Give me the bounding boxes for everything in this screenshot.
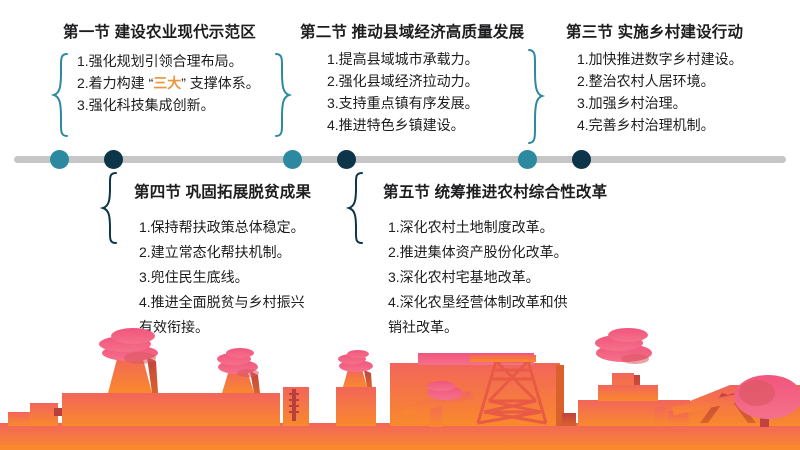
section-5-item-1: 1.深化农村土地制度改革。 [388, 215, 568, 240]
section-4-title: 第四节 巩固拓展脱贫成果 [134, 180, 311, 202]
timeline-dot-6[interactable] [572, 150, 591, 169]
section-3-item-1: 1.加快推进数字乡村建设。 [577, 48, 743, 70]
section-5-item-4: 4.深化农垦经营体制改革和供 [388, 290, 568, 315]
section-5-title: 第五节 统筹推进农村综合性改革 [383, 180, 607, 202]
section-1-list: 1.强化规划引领合理布局。 2.着力构建 “三大” 支撑体系。 3.强化科技集成… [77, 50, 260, 116]
section-4-item-2: 2.建立常态化帮扶机制。 [139, 240, 305, 265]
section-3-item-4: 4.完善乡村治理机制。 [577, 114, 743, 136]
timeline-dot-3[interactable] [283, 150, 302, 169]
infographic-canvas: 第一节 建设农业现代示范区 第二节 推动县域经济高质量发展 第三节 实施乡村建设… [0, 0, 800, 450]
brace-left-section-4 [101, 171, 119, 245]
section-1-item-2: 2.着力构建 “三大” 支撑体系。 [77, 72, 260, 94]
section-4-item-3: 3.兜住民生底线。 [139, 265, 305, 290]
section-1-item-1: 1.强化规划引领合理布局。 [77, 50, 260, 72]
section-1-item-2-highlight: 三大 [153, 75, 181, 91]
section-2-item-4: 4.推进特色乡镇建设。 [327, 114, 479, 136]
section-5-item-3: 3.深化农村宅基地改革。 [388, 265, 568, 290]
timeline-dot-5[interactable] [518, 150, 537, 169]
section-4-item-1: 1.保持帮扶政策总体稳定。 [139, 215, 305, 240]
brace-right-section-2 [526, 48, 544, 145]
section-2-item-3: 3.支持重点镇有序发展。 [327, 92, 479, 114]
section-1-title: 第一节 建设农业现代示范区 [63, 20, 256, 42]
section-3-title: 第三节 实施乡村建设行动 [566, 20, 743, 42]
section-2-item-2: 2.强化县域经济拉动力。 [327, 70, 479, 92]
section-4-item-4: 4.推进全面脱贫与乡村振兴 [139, 290, 305, 315]
timeline-bar [14, 156, 786, 163]
timeline-dot-2[interactable] [104, 150, 123, 169]
section-2-title: 第二节 推动县域经济高质量发展 [300, 20, 524, 42]
section-1-item-2-post: ” 支撑体系。 [181, 75, 260, 91]
section-3-item-3: 3.加强乡村治理。 [577, 92, 743, 114]
timeline-dot-4[interactable] [337, 150, 356, 169]
industrial-skyline-illustration [0, 315, 800, 450]
section-1-item-2-pre: 2.着力构建 “ [77, 75, 153, 91]
section-1-item-3: 3.强化科技集成创新。 [77, 94, 260, 116]
section-3-item-2: 2.整治农村人居环境。 [577, 70, 743, 92]
section-5-item-2: 2.推进集体资产股份化改革。 [388, 240, 568, 265]
timeline-dot-1[interactable] [50, 150, 69, 169]
section-3-list: 1.加快推进数字乡村建设。 2.整治农村人居环境。 3.加强乡村治理。 4.完善… [577, 48, 743, 136]
brace-right-section-1 [273, 52, 291, 138]
brace-left-section-1 [52, 52, 70, 138]
section-2-list: 1.提高县域城市承载力。 2.强化县域经济拉动力。 3.支持重点镇有序发展。 4… [327, 48, 479, 136]
section-2-item-1: 1.提高县域城市承载力。 [327, 48, 479, 70]
brace-left-section-5 [347, 171, 365, 245]
